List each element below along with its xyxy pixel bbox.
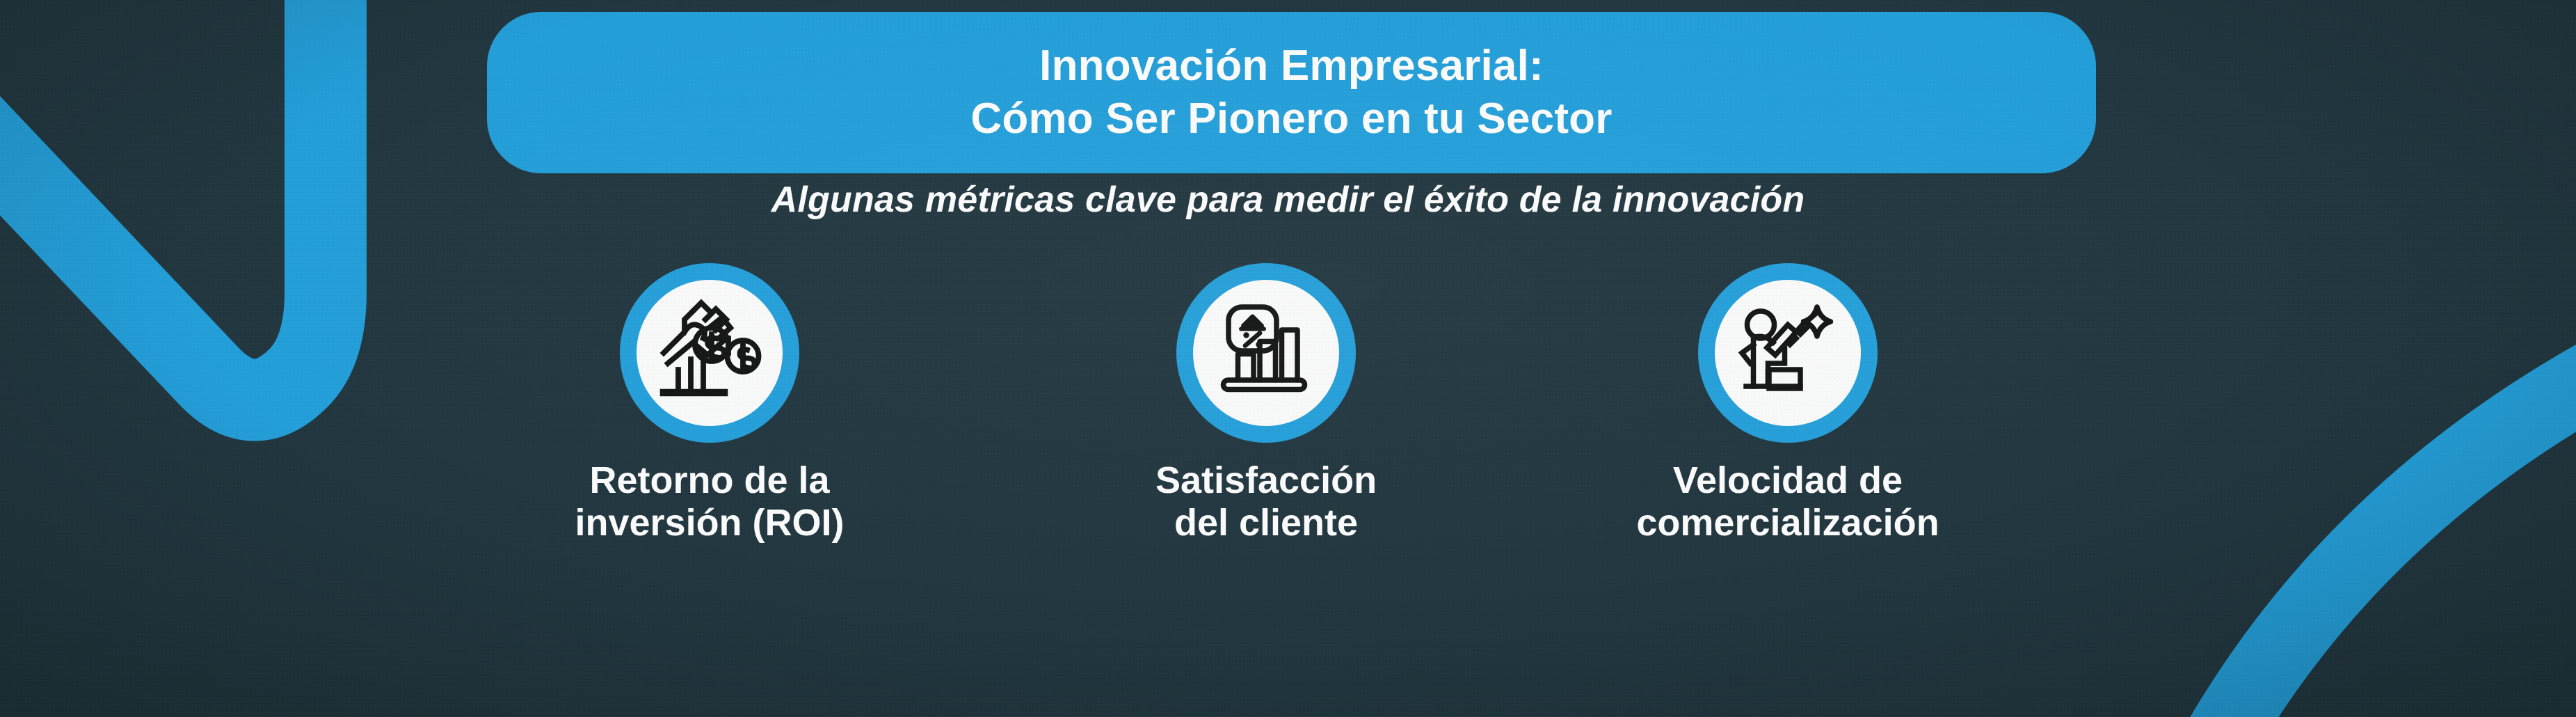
metric-label-customer-satisfaction: Satisfacción del cliente <box>1155 459 1377 544</box>
metric-label-line-2: del cliente <box>1155 502 1377 544</box>
metric-label-line-2: inversión (ROI) <box>575 502 844 544</box>
person-telescope-sparkle-icon <box>1725 290 1850 416</box>
metric-label-line-1: Satisfacción <box>1155 459 1377 502</box>
metric-icon-circle <box>620 263 799 443</box>
banner-title-line-2: Cómo Ser Pionero en tu Sector <box>970 93 1612 145</box>
title-banner: Innovación Empresarial: Cómo Ser Pionero… <box>487 12 2096 173</box>
metric-label-line-1: Velocidad de <box>1636 459 1939 502</box>
hand-holding-coin-growth-chart-icon <box>647 290 772 416</box>
percent-badge-bar-chart-icon <box>1203 290 1329 416</box>
metric-label-line-1: Retorno de la <box>575 459 844 502</box>
metric-label-roi: Retorno de la inversión (ROI) <box>575 459 844 544</box>
bottom-right-arc <box>2198 334 2576 717</box>
metric-icon-circle <box>1698 263 1878 443</box>
metric-item-roi: Retorno de la inversión (ROI) <box>494 263 925 544</box>
metric-icon-circle <box>1176 263 1356 443</box>
metric-item-customer-satisfaction: Satisfacción del cliente <box>1050 263 1482 544</box>
metric-label-line-2: comercialización <box>1636 502 1939 544</box>
infographic-canvas: Innovación Empresarial: Cómo Ser Pionero… <box>0 0 2576 717</box>
subtitle-text: Algunas métricas clave para medir el éxi… <box>0 179 2576 221</box>
metric-label-time-to-market: Velocidad de comercialización <box>1636 459 1939 544</box>
metric-item-time-to-market: Velocidad de comercialización <box>1572 263 2003 544</box>
banner-title-line-1: Innovación Empresarial: <box>1039 40 1544 93</box>
